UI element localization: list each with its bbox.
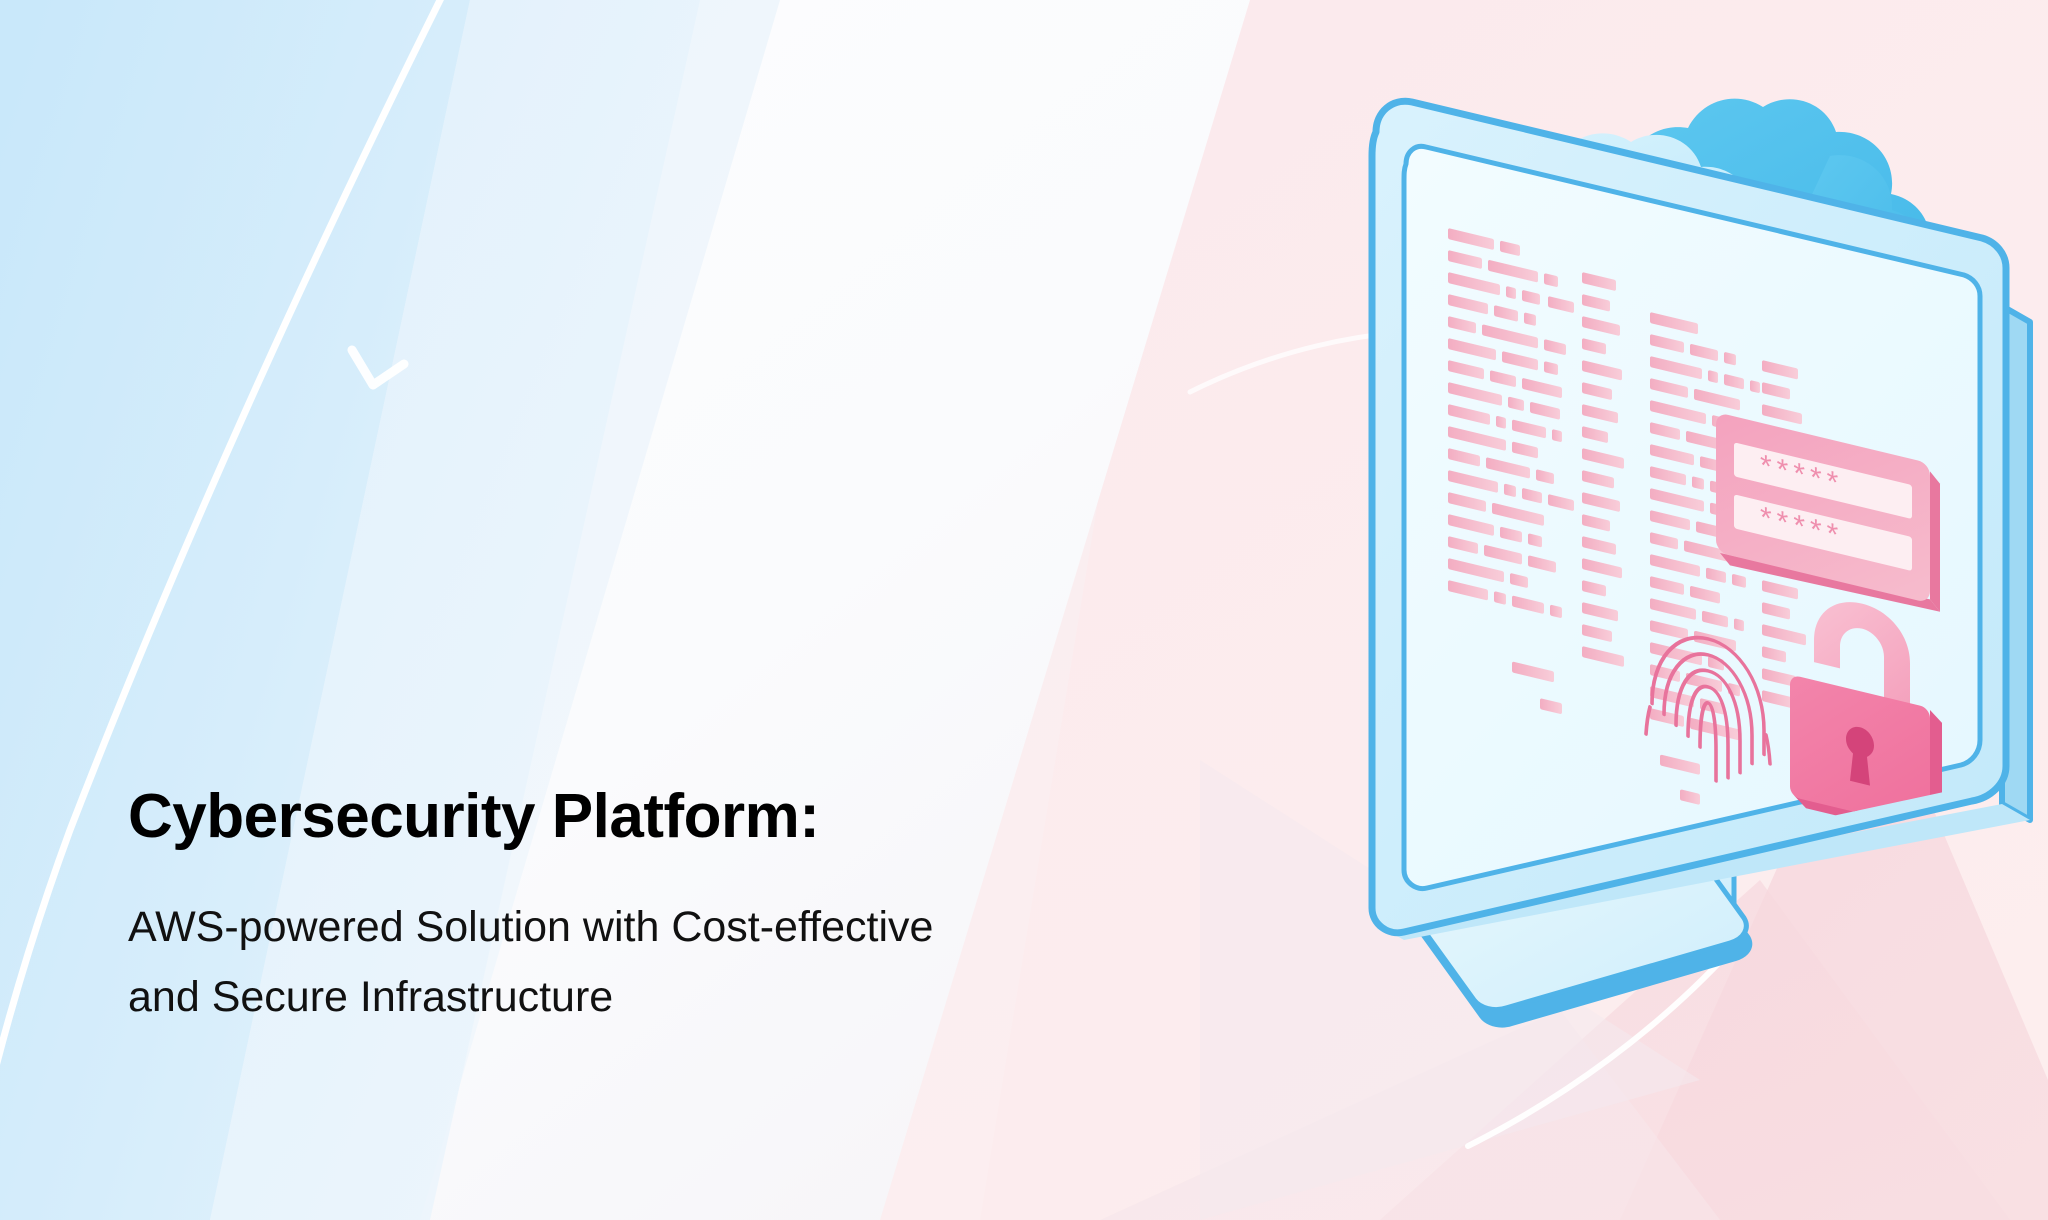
page-title: Cybersecurity Platform: — [128, 784, 1248, 849]
text-block: Cybersecurity Platform: AWS-powered Solu… — [128, 784, 1248, 1032]
page-subtitle: AWS-powered Solution with Cost-effective… — [128, 893, 1238, 1032]
slide-root: ***** ***** — [0, 0, 2048, 1220]
subtitle-line-1: AWS-powered Solution with Cost-effective — [128, 903, 933, 951]
subtitle-line-2: and Secure Infrastructure — [128, 973, 613, 1021]
illustration-container: ***** ***** — [1330, 60, 2048, 1160]
isometric-cybersecurity-monitor: ***** ***** — [1330, 60, 2048, 1160]
